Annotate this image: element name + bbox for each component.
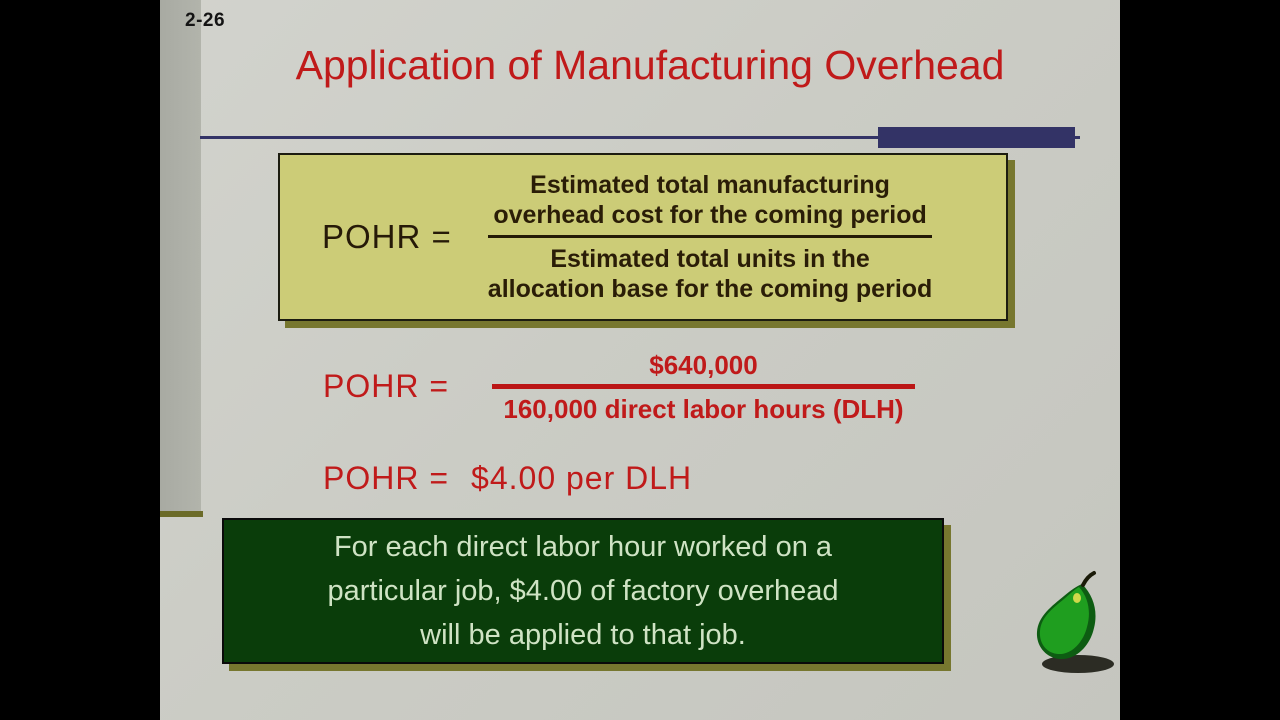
pohr-denominator-line-2: allocation base for the coming period (488, 274, 933, 305)
calculation-label: POHR = (323, 368, 449, 405)
callout-line-1: For each direct labor hour worked on a (327, 525, 838, 569)
result-label: POHR = (323, 460, 449, 496)
pohr-denominator-line-1: Estimated total units in the (488, 244, 933, 275)
calculation-fraction: $640,000 160,000 direct labor hours (DLH… (492, 352, 915, 422)
callout-line-3: will be applied to that job. (327, 613, 838, 657)
pear-icon (1020, 570, 1120, 675)
callout-line-2: particular job, $4.00 of factory overhea… (327, 569, 838, 613)
pear-highlight (1073, 593, 1081, 603)
pohr-fraction-bar (488, 235, 933, 238)
calculation-numerator: $640,000 (492, 352, 915, 384)
pohr-numerator-line-1: Estimated total manufacturing (488, 170, 933, 201)
header-accent-block (878, 127, 1075, 148)
letterbox-bar-left (0, 0, 160, 720)
explanation-callout: For each direct labor hour worked on a p… (222, 518, 944, 664)
slide-number: 2-26 (185, 10, 225, 32)
pohr-calculation-row: POHR = $640,000 160,000 direct labor hou… (160, 352, 1120, 428)
presentation-slide: 2-26 Application of Manufacturing Overhe… (160, 0, 1120, 720)
pohr-formula-fraction: Estimated total manufacturing overhead c… (488, 170, 933, 305)
page-title: Application of Manufacturing Overhead (220, 42, 1080, 89)
letterbox-bar-right (1120, 0, 1280, 720)
pohr-formula-box: POHR = Estimated total manufacturing ove… (278, 153, 1008, 321)
left-decorative-band (160, 0, 201, 511)
pear-stem (1083, 573, 1094, 585)
result-value: $4.00 per DLH (471, 460, 692, 496)
left-band-footer-line (160, 511, 203, 517)
calculation-denominator: 160,000 direct labor hours (DLH) (492, 389, 915, 422)
pohr-formula-content: POHR = Estimated total manufacturing ove… (280, 155, 1006, 319)
explanation-callout-text: For each direct labor hour worked on a p… (313, 525, 852, 657)
pohr-formula-label: POHR = (322, 218, 452, 256)
pohr-result-row: POHR =$4.00 per DLH (323, 460, 692, 497)
pear-shadow (1042, 655, 1114, 673)
screen: 2-26 Application of Manufacturing Overhe… (0, 0, 1280, 720)
pohr-numerator-line-2: overhead cost for the coming period (488, 200, 933, 231)
